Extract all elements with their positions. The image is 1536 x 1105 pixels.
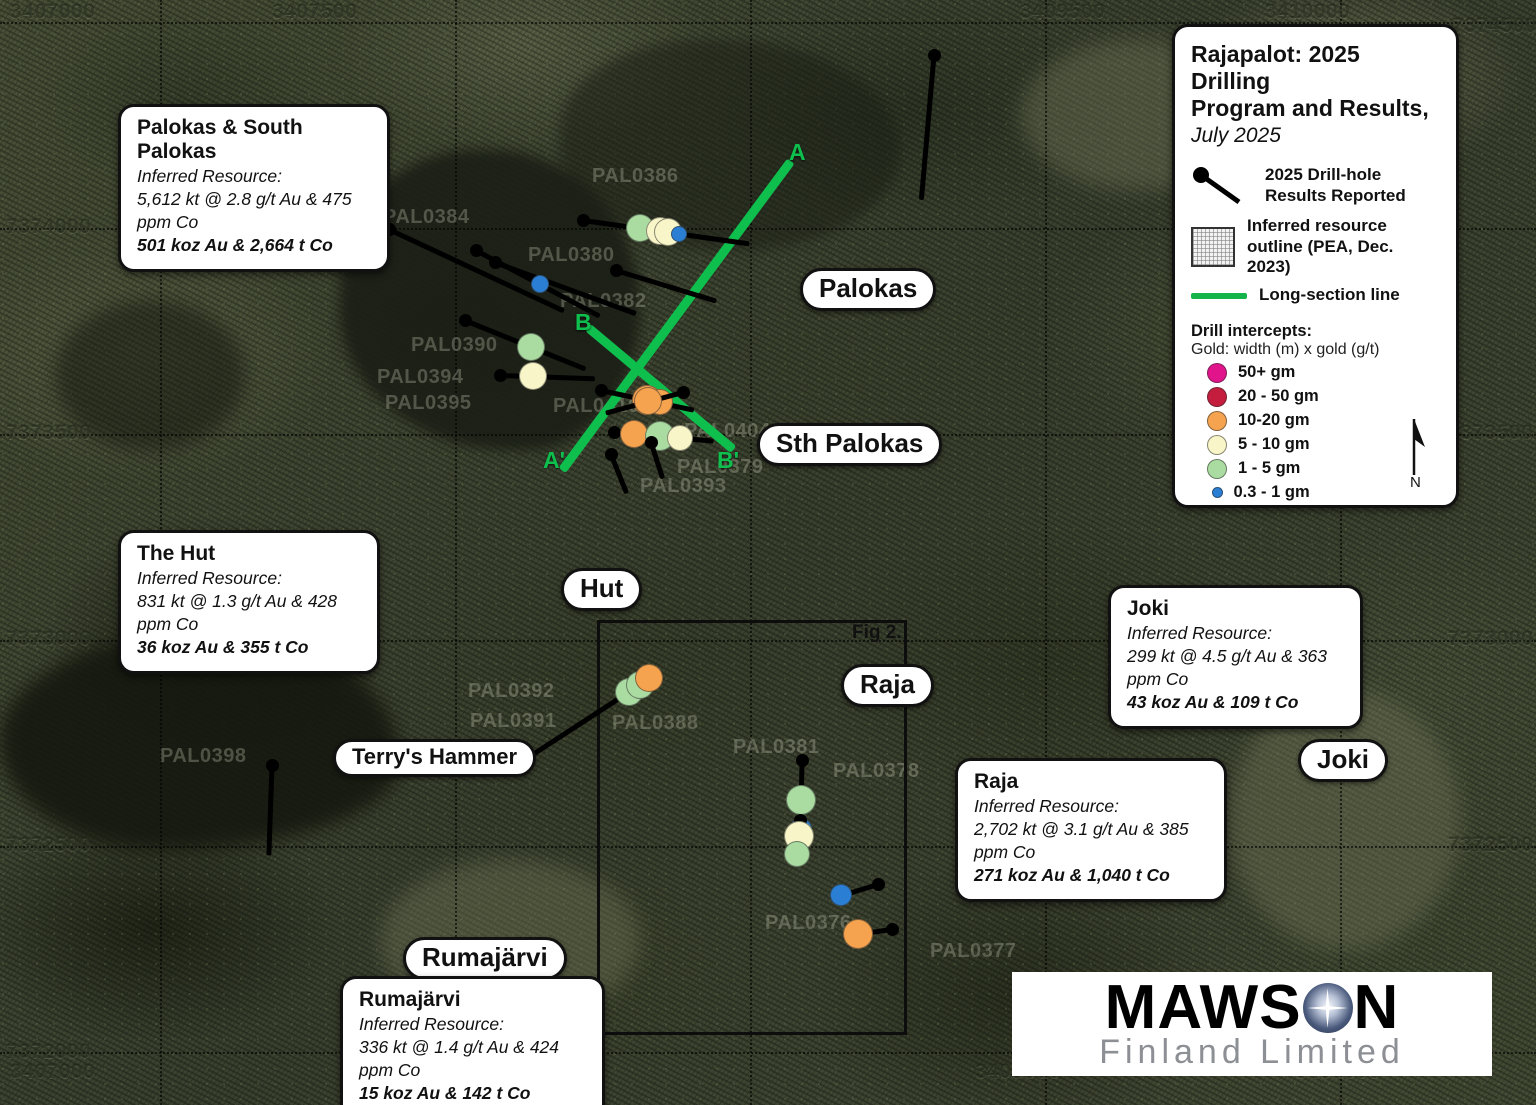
north-label: N [1410,474,1421,491]
legend-resource-outline-line1: Inferred resource [1247,216,1440,236]
legend-class-row: 50+ gm [1207,363,1440,383]
map-feature-label: Joki [1298,739,1388,782]
legend-class-label: 5 - 10 gm [1238,435,1310,454]
info-box-subtitle: Inferred Resource: [974,795,1208,818]
drill-hole-icon [1191,166,1253,206]
map-legend[interactable]: Rajapalot: 2025 Drilling Program and Res… [1172,24,1459,508]
drill-hole-collar [872,878,885,891]
grid-label-right: 7372500 [1448,833,1533,857]
logo-text-right: N [1354,979,1400,1038]
grid-label-left: 7373500 [6,421,91,445]
map-feature-label: Hut [561,568,642,611]
drill-hole-collar [595,384,608,397]
info-box-title: The Hut [137,542,361,566]
info-box-the-hut[interactable]: The Hut Inferred Resource: 831 kt @ 1.3 … [118,530,380,674]
legend-class-dot-icon [1207,459,1227,479]
info-box-total: 36 koz Au & 355 t Co [137,636,361,660]
drill-hole-collar [886,923,899,936]
north-arrow-icon: N [1394,417,1434,489]
legend-class-row: 20 - 50 gm [1207,387,1440,407]
legend-intercepts-heading: Drill intercepts: [1191,322,1440,341]
long-section-end-label: B [575,309,592,336]
logo-subtitle: Finland Limited [1099,1035,1405,1069]
grid-label-left: 7374000 [6,215,91,239]
info-box-total: 43 koz Au & 109 t Co [1127,691,1344,715]
info-box-total: 501 koz Au & 2,664 t Co [137,234,371,258]
drill-intercept-dot [784,841,810,867]
legend-class-label: 50+ gm [1238,363,1295,382]
drill-hole-collar [470,244,483,257]
grid-label-left: 7372500 [6,833,91,857]
info-box-title: Rumajärvi [359,988,586,1012]
info-box-grade: 299 kt @ 4.5 g/t Au & 363 ppm Co [1127,645,1344,691]
info-box-raja[interactable]: Raja Inferred Resource: 2,702 kt @ 3.1 g… [955,758,1227,902]
info-box-grade: 336 kt @ 1.4 g/t Au & 424 ppm Co [359,1036,586,1082]
rajapalot-drilling-map: 3407000 3407500 3409500 3410000 7374500 … [0,0,1536,1105]
drill-hole-collar [610,264,623,277]
drill-intercept-dot [786,785,816,815]
legend-class-label: 10-20 gm [1238,411,1310,430]
drill-hole-collar [605,448,618,461]
map-feature-label: Palokas [800,268,936,311]
legend-longsection-label: Long-section line [1259,285,1400,305]
info-box-subtitle: Inferred Resource: [1127,622,1344,645]
grid-label-top: 3407000 [10,0,95,24]
legend-class-label: 1 - 5 gm [1238,459,1300,478]
legend-resource-outline-line2: outline (PEA, Dec. 2023) [1247,237,1440,278]
legend-drillhole-label-line1: 2025 Drill-hole [1265,165,1406,185]
legend-title-line2: Program and Results, [1191,95,1440,122]
drill-hole-collar [459,314,472,327]
info-box-joki[interactable]: Joki Inferred Resource: 299 kt @ 4.5 g/t… [1108,585,1363,729]
grid-label-top: 3409500 [1020,0,1105,24]
legend-class-dot-icon [1207,363,1227,383]
map-feature-label: Terry's Hammer [333,739,536,777]
drill-intercept-dot [671,226,687,242]
info-box-grade: 831 kt @ 1.3 g/t Au & 428 ppm Co [137,590,361,636]
info-box-palokas-south-palokas[interactable]: Palokas & South Palokas Inferred Resourc… [118,104,390,272]
info-box-total: 271 koz Au & 1,040 t Co [974,864,1208,888]
legend-class-label: 0.3 - 1 gm [1234,483,1310,502]
legend-class-dot-icon [1207,411,1227,431]
fig2-label: Fig 2. [852,622,902,644]
grid-label-right: 7373500 [1448,421,1533,445]
map-feature-label: Sth Palokas [757,423,942,466]
drill-hole-collar [266,759,279,772]
mawson-logo: MAWS N Finland Limited [1012,972,1492,1076]
legend-intercepts-subheading: Gold: width (m) x gold (g/t) [1191,341,1440,359]
info-box-total: 15 koz Au & 142 t Co [359,1082,586,1105]
legend-date: July 2025 [1191,124,1440,148]
long-section-end-label: A [789,139,806,166]
legend-title-line1: Rajapalot: 2025 Drilling [1191,41,1440,95]
info-box-grade: 5,612 kt @ 2.8 g/t Au & 475 ppm Co [137,188,371,234]
drill-hole-collar [494,369,507,382]
drill-intercept-dot [620,420,648,448]
legend-class-label: 20 - 50 gm [1238,387,1319,406]
drill-intercept-dot [667,425,693,451]
drill-intercept-dot [517,333,545,361]
logo-text-left: MAWS [1105,979,1302,1038]
grid-label-bottom: 3407000 [10,1060,95,1084]
info-box-title: Joki [1127,597,1344,621]
long-section-end-label: B' [717,447,739,474]
info-box-title: Palokas & South Palokas [137,116,371,164]
drill-hole-collar [796,754,809,767]
info-box-subtitle: Inferred Resource: [137,165,371,188]
drill-intercept-dot [843,919,873,949]
legend-class-dot-icon [1212,487,1223,498]
inferred-resource-swatch-icon [1191,227,1235,267]
grid-label-top: 3407500 [272,0,357,24]
legend-class-dot-icon [1207,435,1227,455]
drill-hole-collar [677,386,690,399]
grid-label-left: 7373000 [6,627,91,651]
drill-hole-collar [645,436,658,449]
long-section-line-icon [1191,293,1247,299]
legend-drillhole-label-line2: Results Reported [1265,186,1406,206]
drill-hole-collar [608,426,621,439]
info-box-title: Raja [974,770,1208,794]
grid-label-top-right: 7374500 [1452,14,1536,38]
info-box-subtitle: Inferred Resource: [137,567,361,590]
grid-line-vertical [1045,0,1047,1105]
drill-hole-collar [928,49,941,62]
info-box-subtitle: Inferred Resource: [359,1013,586,1036]
map-feature-label: Rumajärvi [403,937,567,980]
grid-label-top: 3410000 [1265,0,1350,24]
map-feature-label: Raja [841,664,934,707]
legend-class-dot-icon [1207,387,1227,407]
logo-globe-icon [1303,983,1353,1033]
info-box-rumajarvi[interactable]: Rumajärvi Inferred Resource: 336 kt @ 1.… [340,976,605,1105]
info-box-grade: 2,702 kt @ 3.1 g/t Au & 385 ppm Co [974,818,1208,864]
grid-label-right: 7373000 [1448,627,1533,651]
drill-hole-collar [577,214,590,227]
logo-wordmark: MAWS N [1105,979,1400,1038]
long-section-end-label: A' [543,447,565,474]
clearing-area [1230,690,1460,950]
